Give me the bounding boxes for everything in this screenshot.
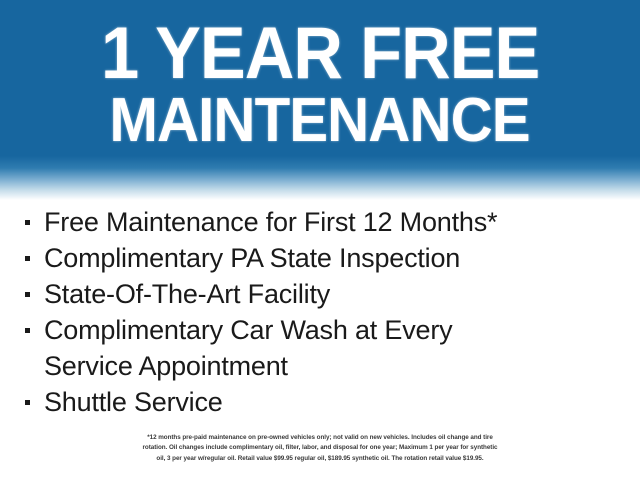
square-bullet-icon [22, 278, 44, 311]
offer-list: Free Maintenance for First 12 Months* Co… [0, 206, 640, 422]
headline-line-1: 1 YEAR FREE [101, 19, 539, 90]
disclaimer-line-2: rotation. Oil changes include compliment… [40, 443, 600, 453]
list-item: Free Maintenance for First 12 Months* [0, 206, 640, 242]
list-item-label: Free Maintenance for First 12 Months* [44, 206, 497, 239]
list-item-label: State-Of-The-Art Facility [44, 278, 330, 311]
list-item-label: Complimentary PA State Inspection [44, 242, 460, 275]
bullet-spacer [22, 350, 44, 383]
list-item-label: Service Appointment [44, 350, 288, 383]
square-bullet-icon [22, 242, 44, 275]
square-bullet-icon [22, 206, 44, 239]
disclaimer-text: *12 months pre-paid maintenance on pre-o… [40, 433, 600, 464]
list-item: Shuttle Service [0, 386, 640, 422]
square-bullet-icon [22, 386, 44, 419]
headline-line-2: MAINTENANCE [110, 91, 530, 151]
disclaimer-line-1: *12 months pre-paid maintenance on pre-o… [40, 433, 600, 443]
list-item: Complimentary Car Wash at Every [0, 314, 640, 350]
list-item-continuation: Service Appointment [0, 350, 640, 386]
list-item: State-Of-The-Art Facility [0, 278, 640, 314]
list-item-label: Shuttle Service [44, 386, 223, 419]
promotional-ad-graphic: 1 YEAR FREE MAINTENANCE Free Maintenance… [0, 0, 640, 480]
list-item: Complimentary PA State Inspection [0, 242, 640, 278]
banner-header: 1 YEAR FREE MAINTENANCE [0, 0, 640, 200]
square-bullet-icon [22, 314, 44, 347]
headline-block: 1 YEAR FREE MAINTENANCE [0, 0, 640, 170]
disclaimer-line-3: oil, 3 per year w/regular oil. Retail va… [40, 454, 600, 464]
list-item-label: Complimentary Car Wash at Every [44, 314, 452, 347]
